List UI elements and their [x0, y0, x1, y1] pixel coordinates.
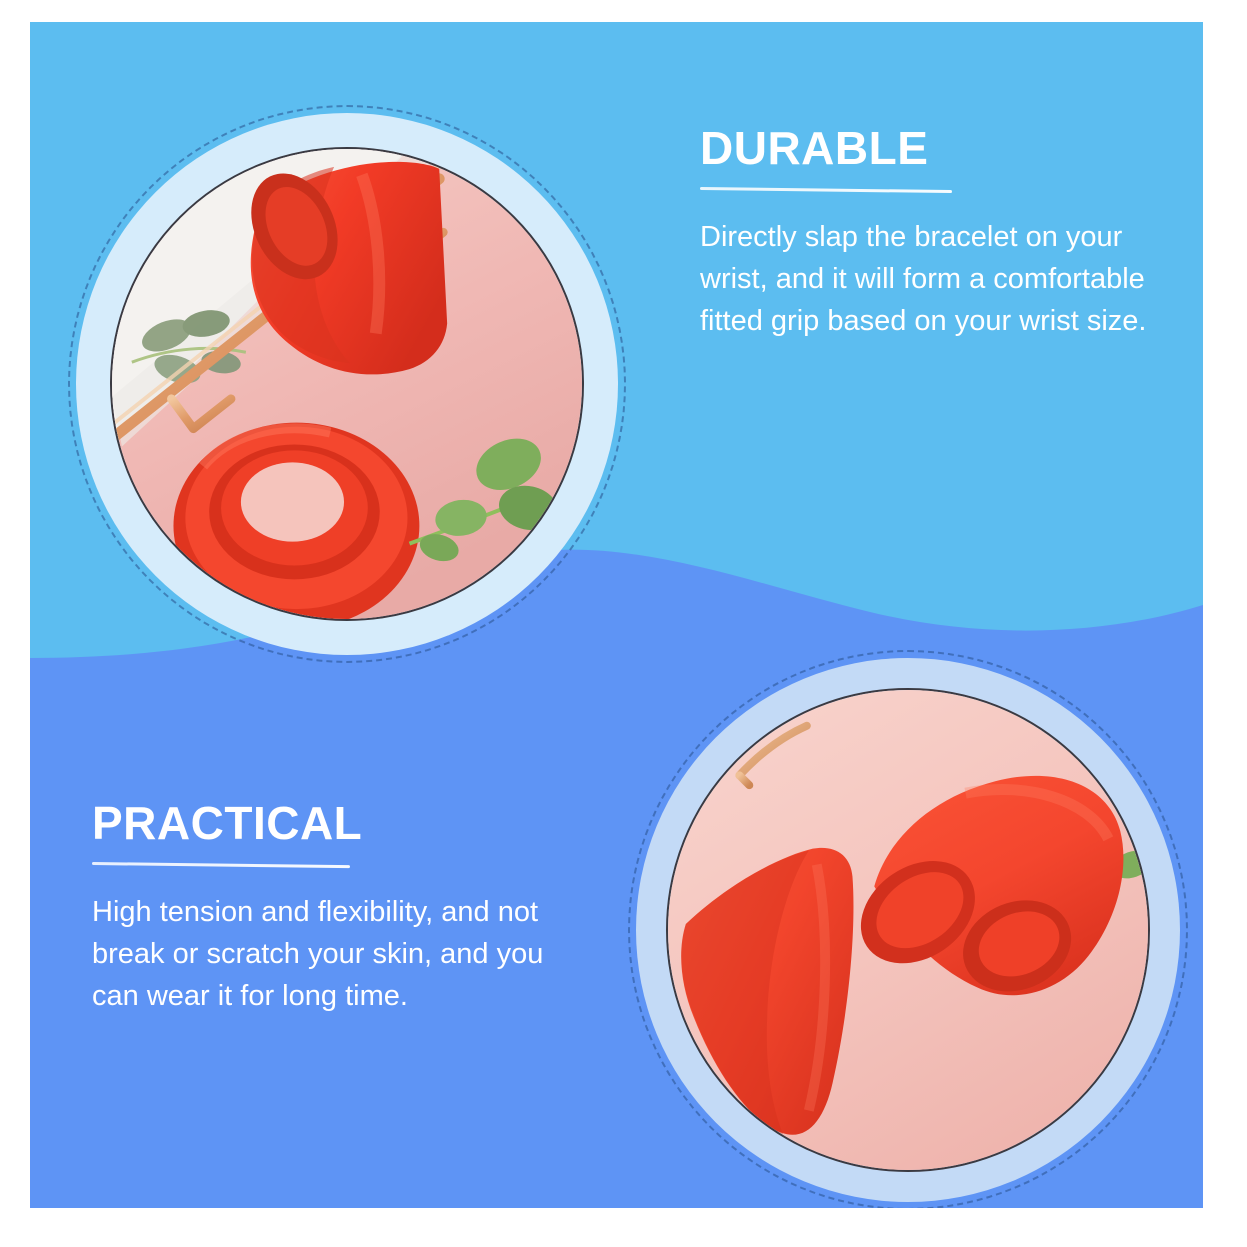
photo-dotted-border-bottom	[628, 650, 1188, 1208]
infographic-panel: DURABLE Directly slap the bracelet on yo…	[30, 22, 1203, 1208]
feature-title-durable: DURABLE	[700, 125, 1190, 171]
product-photo-top	[68, 105, 626, 663]
photo-dotted-border-top	[68, 105, 626, 663]
feature-body-durable: Directly slap the bracelet on your wrist…	[700, 216, 1190, 342]
feature-block-durable: DURABLE Directly slap the bracelet on yo…	[700, 125, 1190, 342]
feature-body-practical: High tension and flexibility, and not br…	[92, 891, 577, 1017]
feature-title-practical: PRACTICAL	[92, 800, 577, 846]
title-underline-durable	[700, 187, 952, 193]
feature-block-practical: PRACTICAL High tension and flexibility, …	[92, 800, 577, 1017]
product-photo-bottom	[628, 650, 1188, 1208]
product-infographic: DURABLE Directly slap the bracelet on yo…	[0, 0, 1247, 1247]
title-underline-practical	[92, 862, 350, 868]
